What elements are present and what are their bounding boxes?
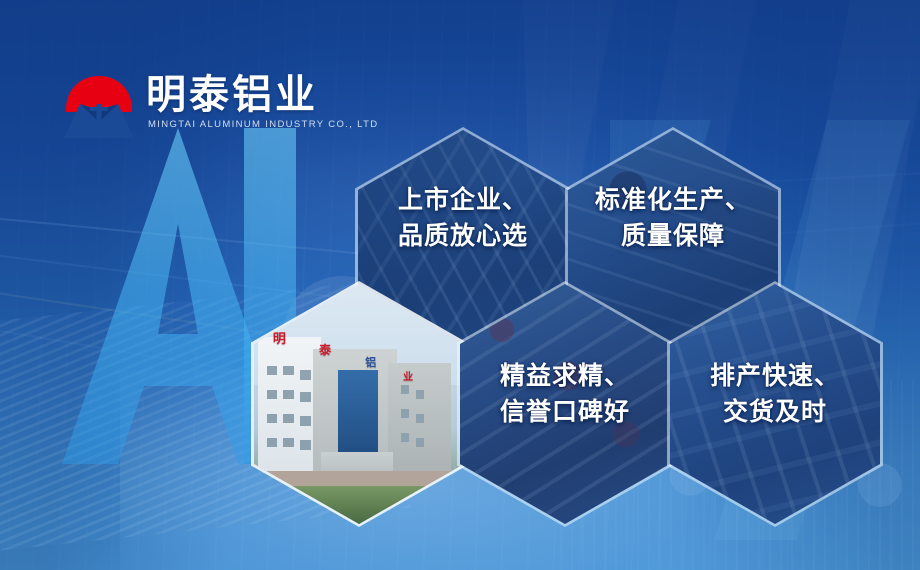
logo-chinese-name: 明泰铝业 xyxy=(146,72,318,118)
feature-label-standardized-production: 标准化生产、 质量保障 xyxy=(566,182,780,254)
logo-english-name: MINGTAI ALUMINUM INDUSTRY CO., LTD xyxy=(148,119,378,130)
feature-label-listed-company: 上市企业、 品质放心选 xyxy=(356,182,570,254)
feature-label-craftsmanship: 精益求精、 信誉口碑好 xyxy=(458,358,672,430)
sun-mountain-logo-icon xyxy=(62,74,136,140)
company-logo[interactable]: 明泰铝业 MINGTAI ALUMINUM INDUSTRY CO., LTD xyxy=(62,74,292,142)
promo-banner: 明泰铝业 MINGTAI ALUMINUM INDUSTRY CO., LTD … xyxy=(0,0,920,570)
feature-label-fast-delivery: 排产快速、 交货及时 xyxy=(668,358,882,430)
